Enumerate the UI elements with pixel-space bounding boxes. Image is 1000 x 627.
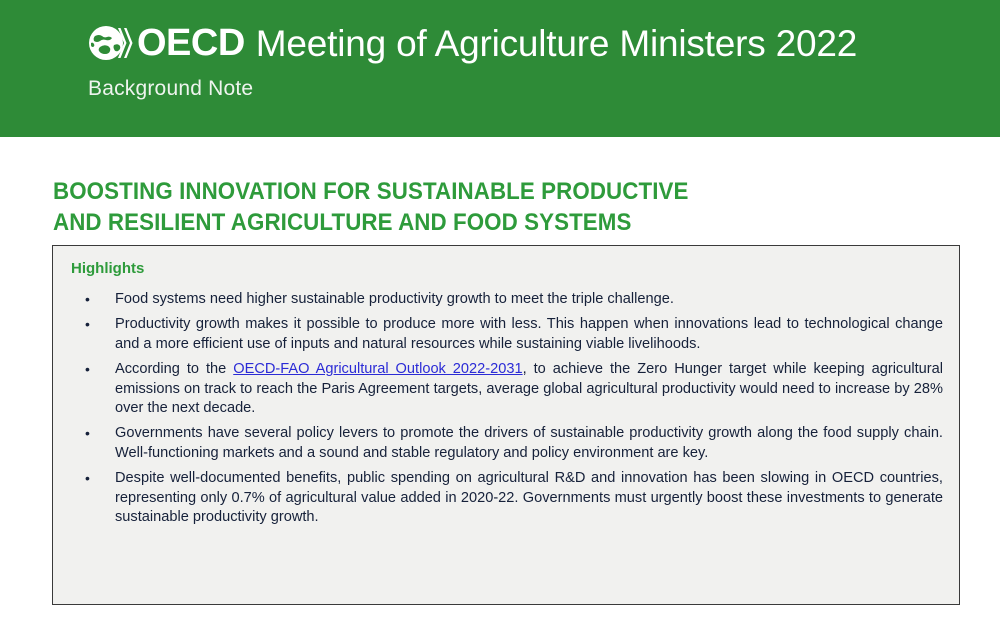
- bullet-marker-icon: •: [85, 315, 90, 334]
- oecd-wordmark: OECD: [137, 24, 245, 62]
- header-title: Meeting of Agriculture Ministers 2022: [256, 25, 857, 62]
- highlights-heading: Highlights: [71, 260, 943, 278]
- list-item-text: Productivity growth makes it possible to…: [115, 316, 943, 351]
- oecd-fao-outlook-link[interactable]: OECD-FAO Agricultural Outlook 2022-2031: [233, 361, 522, 377]
- list-item: • Productivity growth makes it possible …: [69, 315, 943, 354]
- list-item-text-before-link: According to the: [115, 361, 233, 377]
- list-item-text: Governments have several policy levers t…: [115, 425, 943, 460]
- bullet-marker-icon: •: [85, 424, 90, 443]
- bullet-marker-icon: •: [85, 290, 90, 309]
- brand-line: OECD Meeting of Agriculture Ministers 20…: [88, 23, 970, 63]
- list-item: • Food systems need higher sustainable p…: [69, 290, 943, 309]
- page-title: BOOSTING INNOVATION FOR SUSTAINABLE PROD…: [53, 176, 890, 238]
- page-title-line-2: AND RESILIENT AGRICULTURE AND FOOD SYSTE…: [53, 207, 890, 238]
- list-item: • Despite well-documented benefits, publ…: [69, 469, 943, 527]
- highlights-bullet-list: • Food systems need higher sustainable p…: [69, 290, 943, 527]
- page-title-line-1: BOOSTING INNOVATION FOR SUSTAINABLE PROD…: [53, 176, 890, 207]
- highlights-box: Highlights • Food systems need higher su…: [52, 245, 960, 605]
- list-item-text: Food systems need higher sustainable pro…: [115, 291, 674, 307]
- header-subtitle: Background Note: [88, 77, 970, 100]
- oecd-globe-logo-icon: [88, 23, 134, 63]
- bullet-marker-icon: •: [85, 469, 90, 488]
- page-header-band: OECD Meeting of Agriculture Ministers 20…: [0, 0, 1000, 137]
- bullet-marker-icon: •: [85, 360, 90, 379]
- header-content: OECD Meeting of Agriculture Ministers 20…: [88, 23, 970, 100]
- list-item: • According to the OECD-FAO Agricultural…: [69, 360, 943, 418]
- list-item: • Governments have several policy levers…: [69, 424, 943, 463]
- list-item-text: Despite well-documented benefits, public…: [115, 470, 943, 525]
